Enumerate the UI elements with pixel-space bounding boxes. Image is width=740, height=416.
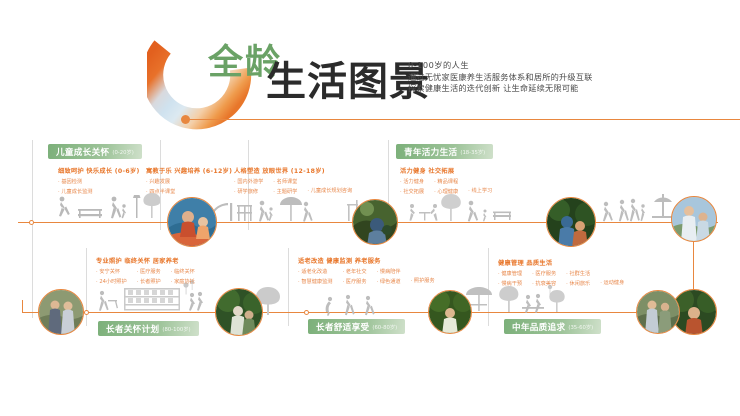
badge-range: (35-60岁) (568, 323, 593, 331)
category-youth-0: 活力健身 社交拓展 活力健身 社交拓展 精品课程 心理健康 线上学习 (400, 166, 492, 195)
people-silhouette-group (52, 190, 160, 224)
category-item: 四点半课堂 (146, 188, 175, 195)
elder-comfort-photo (428, 290, 472, 334)
category-column: 临终关怀 家庭协托 (171, 268, 195, 285)
badge-range: (60-80岁) (372, 323, 397, 331)
badge-label: 儿童成长关怀 (56, 146, 109, 158)
category-column: 健康管理 慢病干预 (498, 270, 522, 287)
category-item: 长者照护 (137, 278, 161, 285)
badge-label: 长者舒适享受 (316, 321, 369, 333)
subtitle-block: 0-100岁的人生 通过无忧家医康养生活服务体系和居所的升级互联 探索健康生活的… (408, 60, 593, 95)
garden-seating-silhouette (460, 283, 568, 315)
category-elder-care-0: 专业照护 临终关怀 居家养老 安宁关怀 24小时照护 医疗服务 长者照护 临终关… (96, 256, 195, 285)
category-column: 活力健身 社交拓展 (400, 178, 424, 195)
category-item: 兴趣发展 (146, 178, 175, 185)
category-column: 安宁关怀 24小时照护 (96, 268, 127, 285)
category-column: 照护服务 (411, 268, 435, 285)
child-outdoor-photo (352, 199, 398, 245)
category-item: 抗衰美容 (532, 280, 556, 287)
category-item: 线上学习 (468, 187, 492, 194)
category-item: 社群生活 (566, 270, 590, 277)
category-elder-comfort-0: 适老改造 健康监测 养老服务 适老化改造 智慧健康监测 老年社交 医疗服务 慢病… (298, 256, 435, 285)
category-item: 健康管理 (498, 270, 522, 277)
category-item: 儿童成长规划咨询 (307, 187, 352, 194)
midlife-leisure-photo (636, 290, 680, 334)
category-item: 慢病陪伴 (377, 268, 401, 275)
category-item: 安宁关怀 (96, 268, 127, 275)
category-item: 儿童成长监测 (58, 188, 92, 195)
category-item: 名师课堂 (273, 178, 297, 185)
category-heading: 健康管理 品质生活 (498, 258, 624, 267)
category-item: 运动健身 (600, 279, 624, 286)
category-item: 社交拓展 (400, 188, 424, 195)
category-item: 主题研学 (273, 188, 297, 195)
subtitle-line-1: 0-100岁的人生 (408, 60, 593, 72)
category-heading: 寓教于乐 兴趣培养 (6-12岁) (146, 166, 232, 175)
category-item: 老年社交 (342, 268, 366, 275)
category-item: 医疗服务 (137, 268, 161, 275)
column-divider (288, 248, 289, 326)
category-heading: 细致呵护 快乐成长 (0-6岁) (58, 166, 140, 175)
category-item: 绿色通道 (377, 278, 401, 285)
timeline-endcap-left (22, 300, 23, 313)
category-column: 名师课堂 主题研学 (273, 178, 297, 195)
subtitle-line-2: 通过无忧家医康养生活服务体系和居所的升级互联 (408, 72, 593, 84)
category-item: 适老化改造 (298, 268, 332, 275)
timeline-node (304, 310, 309, 315)
section-badge-elder-comfort[interactable]: 长者舒适享受 (60-80岁) (308, 319, 405, 334)
youth-activity-photo (546, 197, 596, 247)
badge-range: (80-100岁) (162, 325, 190, 333)
section-badge-midlife[interactable]: 中年品质追求 (35-60岁) (504, 319, 601, 334)
badge-label: 中年品质追求 (512, 321, 565, 333)
elder-couple-walk-photo (38, 289, 84, 335)
category-heading: 人格塑造 放眼世界 (12-18岁) (234, 166, 352, 175)
category-heading: 适老改造 健康监测 养老服务 (298, 256, 435, 265)
section-badge-child[interactable]: 儿童成长关怀 (0-20岁) (48, 144, 142, 159)
category-column: 兴趣发展 四点半课堂 (146, 178, 175, 195)
category-item: 研学旅修 (234, 188, 263, 195)
timeline-node (29, 220, 34, 225)
badge-range: (18-35岁) (460, 148, 485, 156)
category-item: 慢病干预 (498, 280, 522, 287)
category-item: 24小时照护 (96, 278, 127, 285)
timeline-node (84, 310, 89, 315)
section-badge-elder-care[interactable]: 长者关怀计划 (80-100岁) (98, 321, 199, 336)
category-child-1: 寓教于乐 兴趣培养 (6-12岁) 兴趣发展 四点半课堂 (146, 166, 232, 195)
column-divider (32, 140, 33, 318)
elder-garden-photo (215, 288, 263, 336)
category-column: 国内外游学 研学旅修 (234, 178, 263, 195)
page-title: 生活图景 (266, 62, 430, 102)
category-item: 照护服务 (411, 277, 435, 284)
youth-family-photo (671, 196, 717, 242)
category-heading: 活力健身 社交拓展 (400, 166, 492, 175)
category-child-2: 人格塑造 放眼世界 (12-18岁) 国内外游学 研学旅修 名师课堂 主题研学 … (234, 166, 352, 195)
category-item: 医疗服务 (532, 270, 556, 277)
category-midlife-0: 健康管理 品质生活 健康管理 慢病干预 医疗服务 抗衰美容 社群生活 休闲旅乐 … (498, 258, 624, 287)
playground-silhouette-group (208, 193, 326, 224)
badge-label: 长者关怀计划 (106, 323, 159, 335)
infographic-poster: 全龄 生活图景 0-100岁的人生 通过无忧家医康养生活服务体系和居所的升级互联… (0, 0, 740, 416)
category-column: 医疗服务 长者照护 (137, 268, 161, 285)
category-item: 国内外游学 (234, 178, 263, 185)
category-item: 临终关怀 (171, 268, 195, 275)
category-column: 社群生活 休闲旅乐 (566, 270, 590, 287)
subtitle-line-3: 探索健康生活的迭代创新 让生命延续无限可能 (408, 83, 593, 95)
category-column: 运动健身 (600, 270, 624, 287)
header-divider (186, 119, 740, 120)
category-item: 家庭协托 (171, 278, 195, 285)
badge-range: (0-20岁) (112, 148, 133, 156)
category-column: 老年社交 医疗服务 (342, 268, 366, 285)
category-column: 儿童成长规划咨询 (307, 178, 352, 195)
category-item: 智慧健康监测 (298, 278, 332, 285)
category-item: 活力健身 (400, 178, 424, 185)
poster-header: 全龄 生活图景 0-100岁的人生 通过无忧家医康养生活服务体系和居所的升级互联… (0, 0, 740, 130)
category-item: 基因检测 (58, 178, 92, 185)
category-item: 精品课程 (434, 178, 458, 185)
residence-silhouette-group (96, 280, 206, 314)
category-item: 休闲旅乐 (566, 280, 590, 287)
child-playing-photo (167, 197, 217, 247)
badge-label: 青年活力生活 (404, 146, 457, 158)
category-column: 适老化改造 智慧健康监测 (298, 268, 332, 285)
category-item: 医疗服务 (342, 278, 366, 285)
category-column: 医疗服务 抗衰美容 (532, 270, 556, 287)
elder-pair-silhouette (322, 290, 384, 316)
cafe-silhouette-group (405, 192, 525, 224)
category-child-0: 细致呵护 快乐成长 (0-6岁) 基因检测 儿童成长监测 (58, 166, 140, 195)
category-column: 基因检测 儿童成长监测 (58, 178, 92, 195)
category-column: 精品课程 心理健康 (434, 178, 458, 195)
category-column: 线上学习 (468, 178, 492, 195)
category-item: 心理健康 (434, 188, 458, 195)
category-column: 慢病陪伴 绿色通道 (377, 268, 401, 285)
category-heading: 专业照护 临终关怀 居家养老 (96, 256, 195, 265)
section-badge-youth[interactable]: 青年活力生活 (18-35岁) (396, 144, 493, 159)
